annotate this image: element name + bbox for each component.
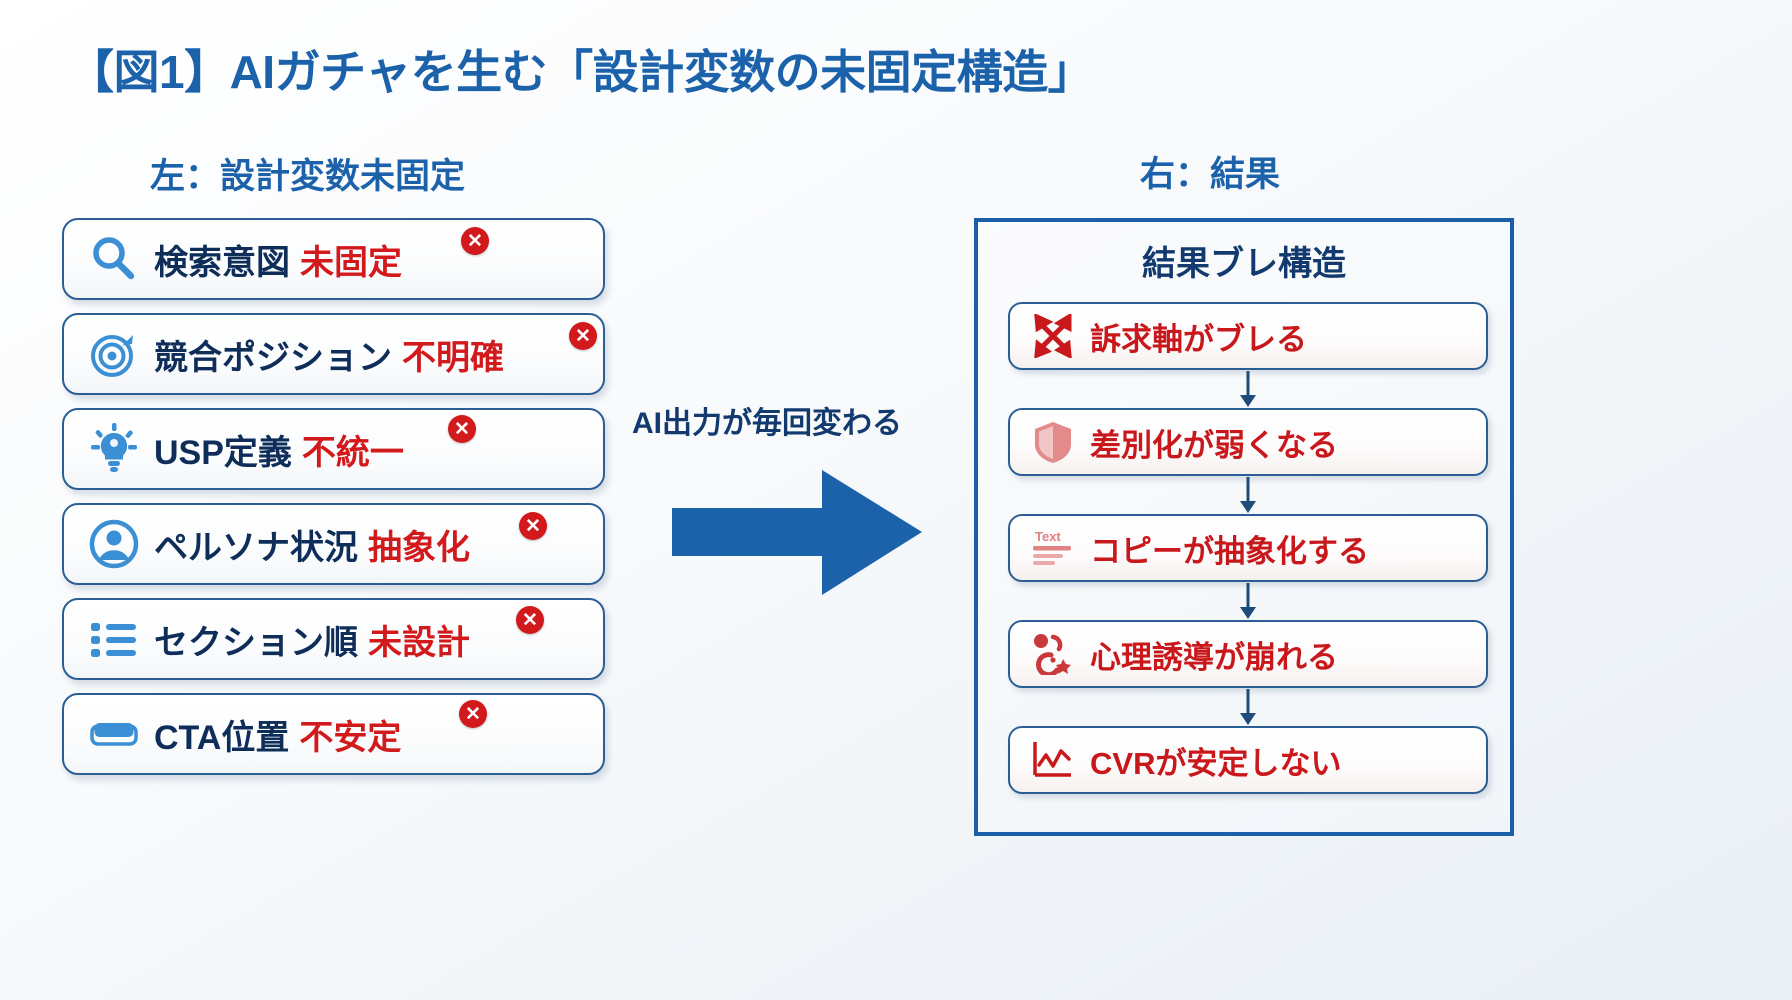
search-icon	[86, 231, 142, 287]
result-card-appeal-axis[interactable]: 訴求軸がブレる	[1008, 302, 1488, 370]
status-badge: ✕	[519, 512, 547, 540]
variable-card-persona-state[interactable]: ペルソナ状況 抽象化 ✕	[62, 503, 605, 585]
result-label: 心理誘導が崩れる	[1090, 632, 1338, 677]
result-label: 訴求軸がブレる	[1090, 314, 1307, 359]
variable-status: 未固定	[300, 235, 402, 284]
text-lines-icon: Text	[1030, 525, 1076, 571]
status-badge: ✕	[459, 700, 487, 728]
right-column-header: 右：結果	[1140, 146, 1280, 197]
result-panel: 結果ブレ構造 訴求軸がブレる	[974, 218, 1514, 836]
result-label: 差別化が弱くなる	[1090, 420, 1338, 465]
variable-card-usp-definition[interactable]: USP定義 不統一 ✕	[62, 408, 605, 490]
result-list: 訴求軸がブレる 差別化が弱くなる Text	[1008, 302, 1488, 794]
variable-status: 不明確	[402, 330, 504, 379]
result-card-cvr-stability[interactable]: CVRが安定しない	[1008, 726, 1488, 794]
list-icon	[86, 611, 142, 667]
arrow-down-icon	[1008, 688, 1488, 726]
variable-status: 不安定	[299, 710, 401, 759]
arrow-down-icon	[1008, 476, 1488, 514]
status-badge: ✕	[516, 606, 544, 634]
design-variable-list: 検索意図 未固定 ✕ 競合ポジション 不明確 ✕	[62, 218, 605, 775]
variable-label: セクション順	[154, 615, 358, 664]
result-label: コピーが抽象化する	[1090, 526, 1369, 571]
shuffle-arrows-icon	[1030, 313, 1076, 359]
arrow-down-icon	[1008, 582, 1488, 620]
result-card-differentiation[interactable]: 差別化が弱くなる	[1008, 408, 1488, 476]
variable-card-competitor-position[interactable]: 競合ポジション 不明確 ✕	[62, 313, 605, 395]
status-badge: ✕	[569, 322, 597, 350]
arrow-down-icon	[1008, 370, 1488, 408]
page-title: 【図1】AIガチャを生む「設計変数の未固定構造」	[68, 36, 1093, 102]
target-icon	[86, 326, 142, 382]
variable-label: USP定義	[154, 425, 292, 474]
variable-label: 検索意図	[154, 235, 290, 284]
person-icon	[86, 516, 142, 572]
left-column-header: 左：設計変数未固定	[150, 148, 465, 199]
variable-label: CTA位置	[154, 710, 289, 759]
variable-label: ペルソナ状況	[154, 520, 358, 569]
center-caption: AI出力が毎回変わる	[632, 398, 902, 442]
variable-card-cta-position[interactable]: CTA位置 不安定 ✕	[62, 693, 605, 775]
arrow-right-icon	[672, 470, 922, 600]
shield-icon	[1030, 419, 1076, 465]
variable-card-search-intent[interactable]: 検索意図 未固定 ✕	[62, 218, 605, 300]
variable-card-section-order[interactable]: セクション順 未設計 ✕	[62, 598, 605, 680]
lightbulb-icon	[86, 421, 142, 477]
psychology-icon	[1030, 631, 1076, 677]
svg-text:Text: Text	[1035, 529, 1061, 544]
status-badge: ✕	[448, 415, 476, 443]
result-panel-title: 結果ブレ構造	[978, 236, 1510, 285]
result-card-psychology[interactable]: 心理誘導が崩れる	[1008, 620, 1488, 688]
variable-label: 競合ポジション	[154, 330, 392, 379]
variable-status: 抽象化	[368, 520, 470, 569]
button-icon	[86, 706, 142, 762]
status-badge: ✕	[461, 227, 489, 255]
variable-status: 不統一	[302, 425, 404, 474]
result-card-copy-abstraction[interactable]: Text コピーが抽象化する	[1008, 514, 1488, 582]
result-label: CVRが安定しない	[1090, 738, 1341, 783]
line-chart-icon	[1030, 737, 1076, 783]
variable-status: 未設計	[368, 615, 470, 664]
